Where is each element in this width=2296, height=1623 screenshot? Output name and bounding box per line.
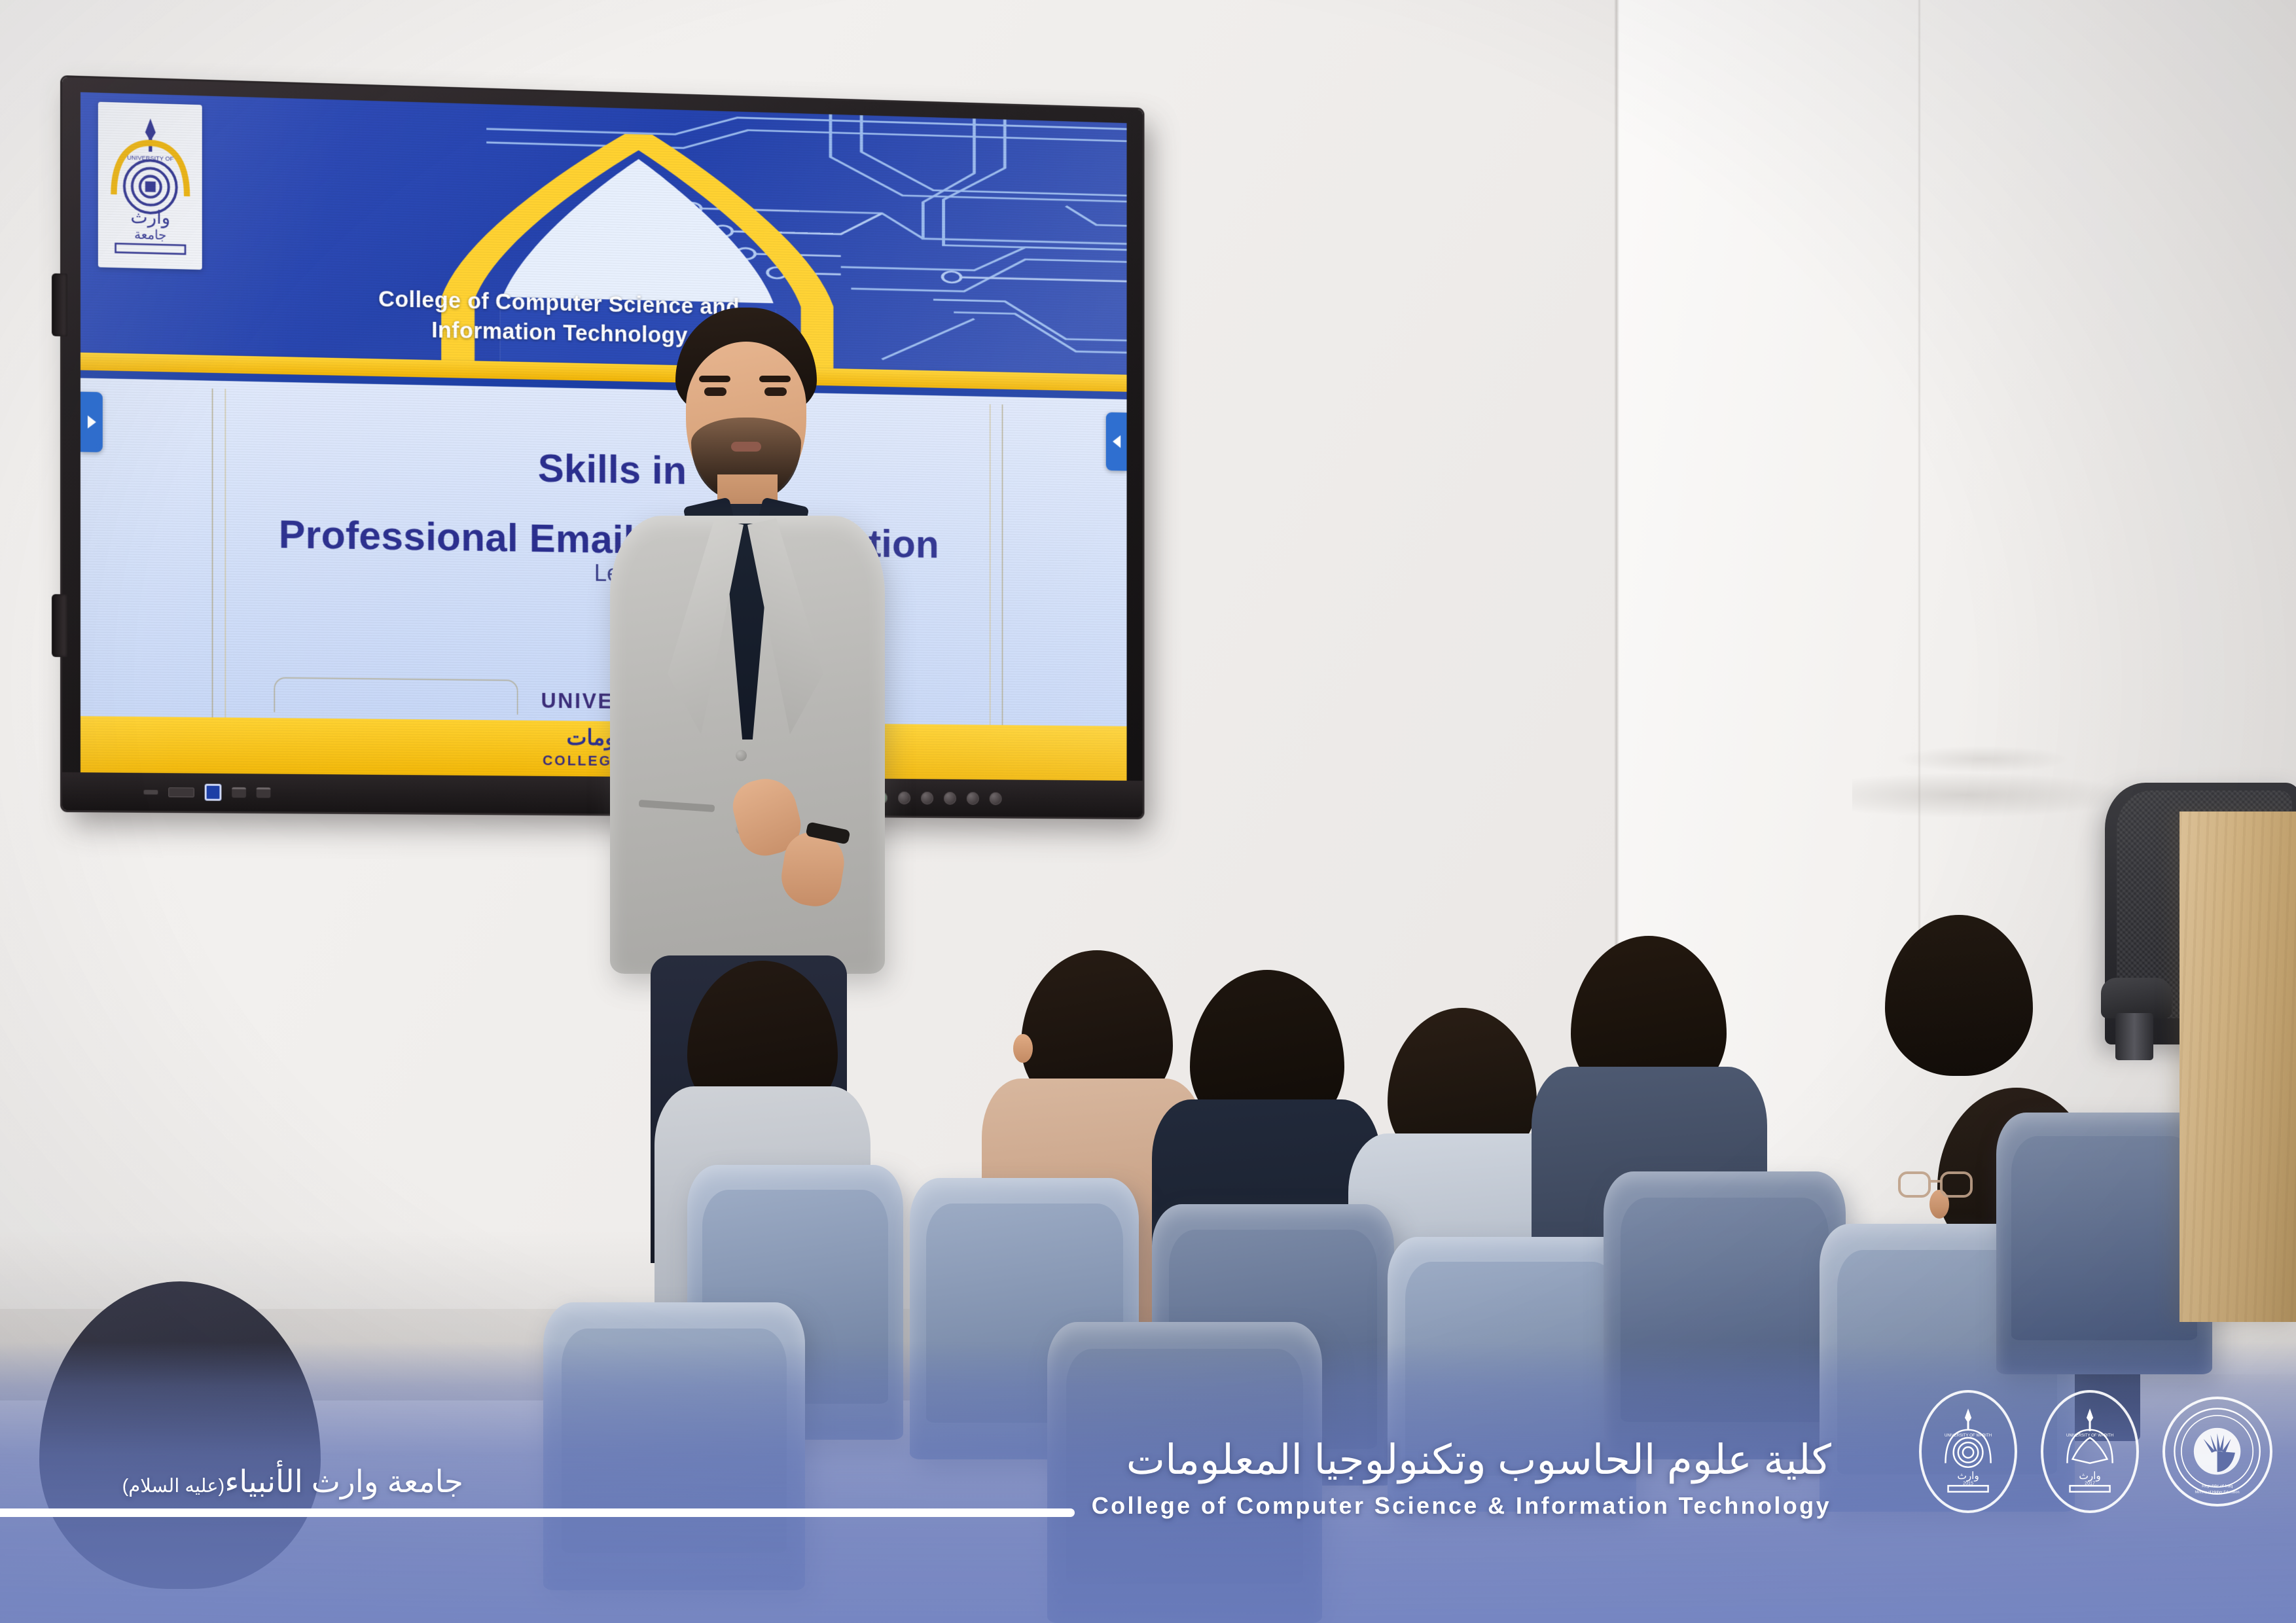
- presenter-eye-right: [764, 387, 787, 396]
- footer-university-arabic-block: جامعة وارث الأنبياء(عليه السلام): [58, 1463, 463, 1500]
- glasses-lens-right: [1940, 1171, 1973, 1198]
- whiteboard-left-handle-button[interactable]: [81, 392, 103, 453]
- footer-university-arabic-suffix: (عليه السلام): [122, 1476, 225, 1497]
- svg-text:وارث: وارث: [130, 207, 170, 228]
- university-seal-icon: UNIVERSITY OF WARITH وارث 2017: [2041, 1390, 2139, 1513]
- svg-text:2015: 2015: [1963, 1480, 1973, 1486]
- student-ear: [1013, 1034, 1033, 1063]
- footer-seal-group: UNIVERSITY OF WARITH وارث 2015 UNIVERSIT…: [1919, 1390, 2272, 1513]
- wall-seam-secondary: [1918, 0, 1921, 982]
- office-chair-armrest: [2101, 978, 2172, 1018]
- wooden-podium: [2179, 811, 2296, 1322]
- presenter-eyebrow-right: [759, 376, 791, 382]
- wall-scuff-mark: [1852, 772, 2134, 818]
- college-seal-graphic: UNIVERSITY OF WARITH وارث 2015: [1928, 1401, 2008, 1503]
- footer-college-block: كلية علوم الحاسوب وتكنولوجيا المعلومات C…: [850, 1436, 1831, 1520]
- branding-footer: جامعة وارث الأنبياء(عليه السلام) كلية عل…: [0, 1342, 2296, 1623]
- home-button[interactable]: [990, 793, 1002, 806]
- svg-text:2017: 2017: [2085, 1480, 2095, 1486]
- university-seal-graphic: UNIVERSITY OF WARITH وارث 2017: [2050, 1401, 2130, 1503]
- screenshot-root: UNIVERSITY OF وارث جامعة College of Comp…: [0, 0, 2296, 1623]
- display-port-cluster[interactable]: [143, 783, 270, 801]
- play-right-icon: [87, 416, 96, 429]
- presenter-mouth: [731, 442, 761, 452]
- aux-port-icon: [257, 787, 271, 798]
- slide-university-logo: UNIVERSITY OF وارث جامعة: [98, 102, 202, 270]
- svg-text:UNIVERSITY OF: UNIVERSITY OF: [127, 154, 173, 162]
- source-button[interactable]: [921, 792, 933, 805]
- volume-up-button[interactable]: [944, 792, 956, 805]
- footer-college-english: College of Computer Science & Informatio…: [850, 1492, 1831, 1520]
- footer-university-arabic: جامعة وارث الأنبياء: [224, 1464, 463, 1499]
- presenter-blazer-button-top: [736, 750, 747, 761]
- ministry-seal-icon: Republic of Iraq Ministry of Higher Educ…: [2162, 1397, 2272, 1507]
- whiteboard-right-handle-button[interactable]: [1106, 412, 1127, 471]
- svg-text:جامعة: جامعة: [134, 228, 166, 243]
- wall-scuff-mark-2: [1898, 746, 2068, 772]
- svg-text:UNIVERSITY OF WARITH: UNIVERSITY OF WARITH: [2066, 1433, 2113, 1438]
- presenter-eyebrow-left: [699, 376, 730, 382]
- svg-text:Republic of Iraq: Republic of Iraq: [2202, 1484, 2233, 1489]
- ministry-seal-graphic: Republic of Iraq Ministry of Higher Educ…: [2169, 1403, 2265, 1499]
- warith-university-emblem-icon: UNIVERSITY OF وارث جامعة: [98, 102, 202, 270]
- play-left-icon: [1113, 435, 1121, 448]
- svg-text:UNIVERSITY OF WARITH: UNIVERSITY OF WARITH: [1945, 1433, 1992, 1438]
- svg-text:Ministry of Higher Education: Ministry of Higher Education: [2195, 1491, 2240, 1495]
- footer-college-arabic: كلية علوم الحاسوب وتكنولوجيا المعلومات: [850, 1436, 1831, 1484]
- volume-down-button[interactable]: [967, 792, 979, 805]
- college-seal-icon: UNIVERSITY OF WARITH وارث 2015: [1919, 1390, 2017, 1513]
- display-side-grip-top: [52, 274, 67, 337]
- display-side-grip-bottom: [52, 594, 67, 657]
- office-chair-arm-post: [2115, 1013, 2153, 1060]
- port-slot-icon: [143, 789, 158, 794]
- presenter-eye-left: [704, 387, 726, 396]
- student-glasses-icon: [1898, 1171, 1978, 1199]
- glasses-lens-left: [1898, 1171, 1931, 1198]
- usb-port-icon: [205, 784, 222, 801]
- audio-port-icon: [232, 787, 246, 798]
- hdmi-port-icon: [168, 787, 194, 797]
